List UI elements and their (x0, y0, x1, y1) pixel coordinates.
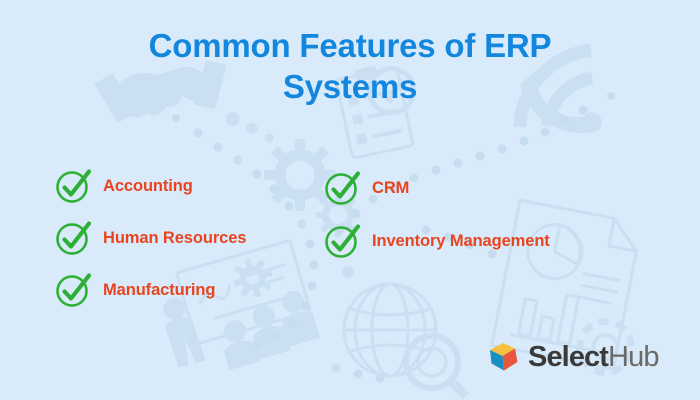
check-circle-icon (55, 220, 91, 256)
feature-list-right: CRM Inventory Management (324, 168, 550, 274)
feature-item-manufacturing[interactable]: Manufacturing (55, 270, 246, 310)
feature-list-left: Accounting Human Resources Manufacturing (55, 166, 246, 322)
selecthub-logo[interactable]: SelectHub (487, 340, 659, 374)
feature-item-human-resources[interactable]: Human Resources (55, 218, 246, 258)
feature-label: Accounting (103, 177, 193, 196)
check-circle-icon (324, 223, 360, 259)
infographic-canvas: Common Features of ERP Systems Accountin… (0, 0, 700, 400)
page-title-line2: Systems (60, 67, 640, 108)
logo-name-bold: Select (528, 341, 608, 373)
check-circle-icon (55, 272, 91, 308)
globe-magnifier-watermark (342, 266, 466, 396)
logo-name-light: Hub (608, 341, 659, 373)
feature-label: Human Resources (103, 229, 246, 248)
page-title-line1: Common Features of ERP (60, 26, 640, 67)
selecthub-cube-icon (487, 340, 521, 374)
check-circle-icon (324, 170, 360, 206)
feature-label: CRM (372, 179, 409, 198)
feature-item-accounting[interactable]: Accounting (55, 166, 246, 206)
selecthub-wordmark: SelectHub (528, 343, 659, 372)
feature-item-inventory-management[interactable]: Inventory Management (324, 221, 550, 261)
page-title: Common Features of ERP Systems (60, 26, 640, 108)
check-circle-icon (55, 168, 91, 204)
feature-label: Manufacturing (103, 281, 215, 300)
feature-label: Inventory Management (372, 232, 550, 251)
feature-item-crm[interactable]: CRM (324, 168, 550, 208)
